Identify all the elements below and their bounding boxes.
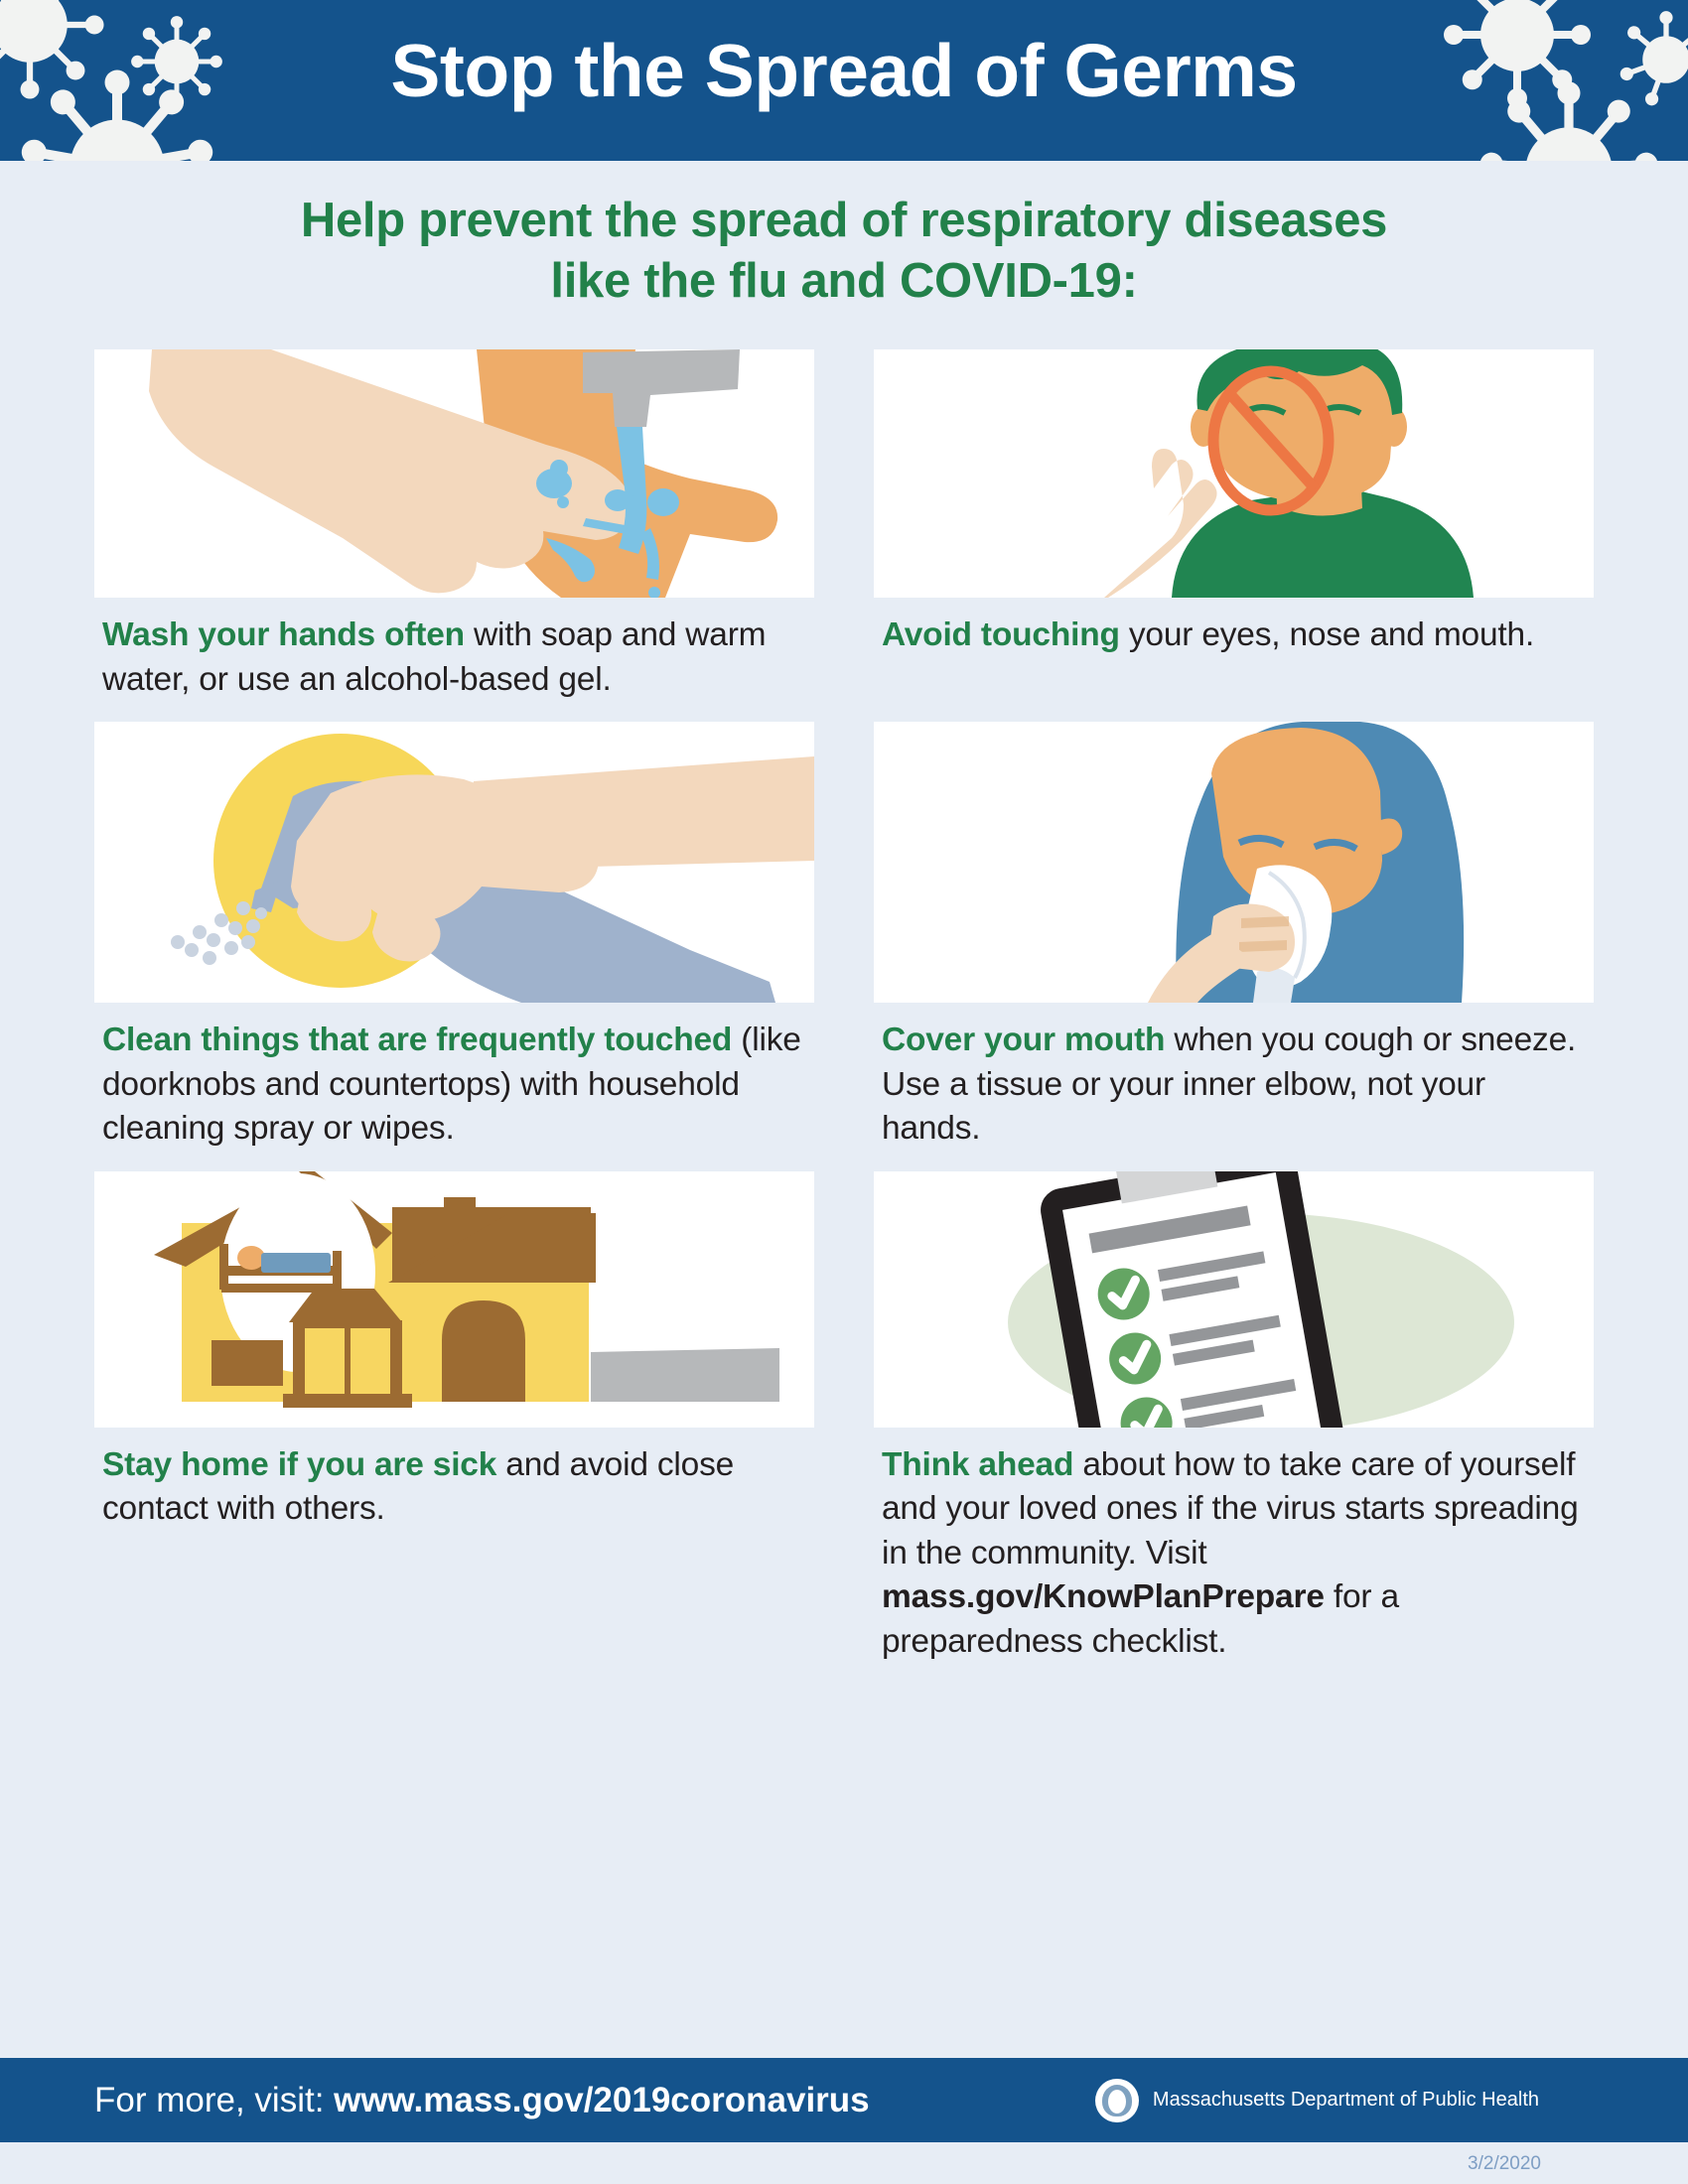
handwashing-illustration bbox=[94, 349, 814, 598]
tip-card-think-ahead: Think ahead about how to take care of yo… bbox=[874, 1171, 1594, 1665]
tips-row-2: Clean things that are frequently touched… bbox=[94, 722, 1594, 1152]
page-header: Stop the Spread of Germs bbox=[0, 0, 1688, 161]
tip-caption-avoid-touching: Avoid touching your eyes, nose and mouth… bbox=[874, 598, 1594, 658]
tip-caption-wash-hands: Wash your hands often with soap and warm… bbox=[94, 598, 814, 702]
tip-lead-stay-home: Stay home if you are sick bbox=[102, 1446, 496, 1483]
checklist-clipboard-illustration bbox=[874, 1171, 1594, 1428]
tips-grid: Wash your hands often with soap and warm… bbox=[94, 349, 1594, 1664]
date-stamp: 3/2/2020 bbox=[1468, 2153, 1541, 2175]
subtitle: Help prevent the spread of respiratory d… bbox=[0, 161, 1688, 312]
tip-card-stay-home: Stay home if you are sick and avoid clos… bbox=[94, 1171, 814, 1665]
tips-row-3: Stay home if you are sick and avoid clos… bbox=[94, 1171, 1594, 1665]
massachusetts-state-seal-icon bbox=[1095, 2079, 1139, 2122]
footer-prefix: For more, visit: bbox=[94, 2081, 334, 2119]
footer-visit-text: For more, visit: www.mass.gov/2019corona… bbox=[94, 2081, 870, 2120]
agency-branding: Massachusetts Department of Public Healt… bbox=[1095, 2079, 1539, 2122]
tip-lead-avoid-touching: Avoid touching bbox=[882, 616, 1120, 653]
tip-card-wash-hands: Wash your hands often with soap and warm… bbox=[94, 349, 814, 702]
footer-url[interactable]: www.mass.gov/2019coronavirus bbox=[334, 2081, 870, 2119]
sneeze-tissue-illustration bbox=[874, 722, 1594, 1003]
cleaning-spray-illustration bbox=[94, 722, 814, 1003]
tip-card-clean-surfaces: Clean things that are frequently touched… bbox=[94, 722, 814, 1152]
page-footer: For more, visit: www.mass.gov/2019corona… bbox=[0, 2058, 1688, 2142]
tip-link-think-ahead[interactable]: mass.gov/KnowPlanPrepare bbox=[882, 1578, 1325, 1615]
tip-lead-cover-mouth: Cover your mouth bbox=[882, 1022, 1165, 1058]
tip-caption-think-ahead: Think ahead about how to take care of yo… bbox=[874, 1428, 1594, 1665]
tips-row-1: Wash your hands often with soap and warm… bbox=[94, 349, 1594, 702]
tip-lead-wash-hands: Wash your hands often bbox=[102, 616, 465, 653]
tip-rest-avoid-touching: your eyes, nose and mouth. bbox=[1120, 616, 1534, 653]
tip-lead-think-ahead: Think ahead bbox=[882, 1446, 1073, 1483]
tip-caption-clean-surfaces: Clean things that are frequently touched… bbox=[94, 1003, 814, 1152]
subtitle-line-1: Help prevent the spread of respiratory d… bbox=[149, 191, 1539, 251]
tip-caption-cover-mouth: Cover your mouth when you cough or sneez… bbox=[874, 1003, 1594, 1152]
stay-home-house-illustration bbox=[94, 1171, 814, 1428]
tip-card-cover-mouth: Cover your mouth when you cough or sneez… bbox=[874, 722, 1594, 1152]
tip-card-avoid-touching: Avoid touching your eyes, nose and mouth… bbox=[874, 349, 1594, 702]
page-title: Stop the Spread of Germs bbox=[0, 28, 1688, 113]
subtitle-line-2: like the flu and COVID-19: bbox=[149, 251, 1539, 312]
no-face-touching-illustration bbox=[874, 349, 1594, 598]
tip-caption-stay-home: Stay home if you are sick and avoid clos… bbox=[94, 1428, 814, 1532]
tip-lead-clean-surfaces: Clean things that are frequently touched bbox=[102, 1022, 732, 1058]
agency-name: Massachusetts Department of Public Healt… bbox=[1153, 2089, 1539, 2112]
